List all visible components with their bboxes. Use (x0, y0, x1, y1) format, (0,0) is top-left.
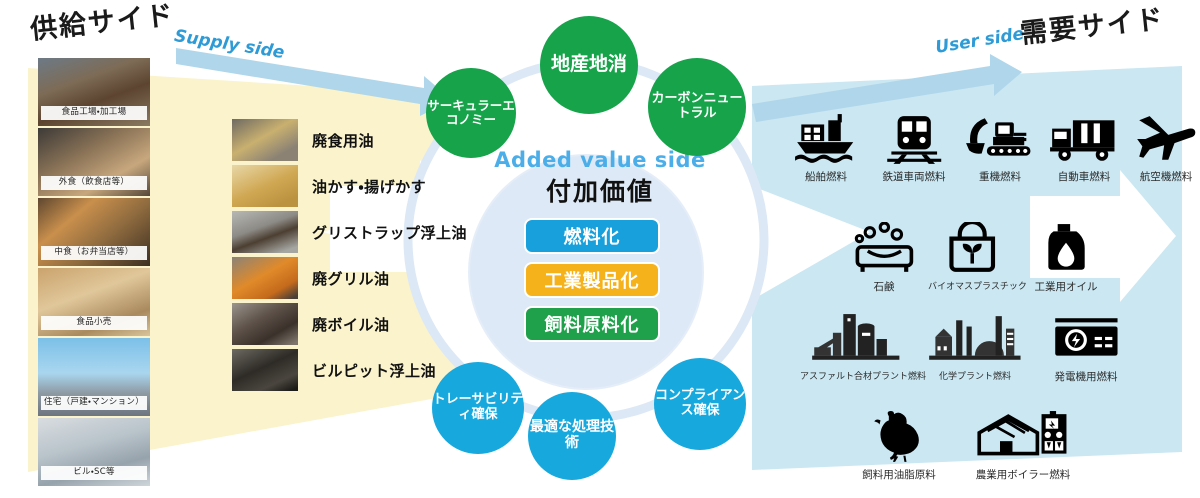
bubble-technology: 最適な処理技術 (528, 392, 616, 480)
photo-caption: 食品小売 (41, 316, 147, 330)
oil-thumbnail (232, 303, 298, 345)
supply-source-list: 食品工場・加工場 外食（飲食店等） 中食（お弁当店等） 食品小売 住宅（戸建・マ… (38, 58, 150, 488)
demand-item-label: 飼料用油脂原料 (846, 467, 952, 482)
oil-thumbnail (232, 349, 298, 391)
list-item: 中食（お弁当店等） (38, 198, 150, 266)
list-item: 廃グリル油 (232, 256, 467, 300)
oil-bottle-icon (1022, 222, 1110, 278)
list-item: グリストラップ浮上油 (232, 210, 467, 254)
bubble-local-production: 地産地消 (540, 16, 638, 114)
ship-icon (782, 112, 870, 168)
demand-item-generator: 発電機用燃料 (1036, 312, 1136, 384)
value-pill-group: 燃料化 工業製品化 飼料原料化 (524, 218, 660, 350)
bubble-carbon-neutral: カーボンニュートラル (648, 58, 746, 156)
oil-label: 廃ボイル油 (312, 314, 390, 335)
list-item: ビルピット浮上油 (232, 348, 467, 392)
demand-item-excavator: 重機燃料 (956, 112, 1044, 184)
demand-item-label: 船舶燃料 (782, 169, 870, 184)
train-icon (870, 112, 958, 168)
truck-icon (1040, 112, 1128, 168)
bubble-circular-economy: サーキュラーエコノミー (426, 68, 516, 158)
demand-item-industrial-oil: 工業用オイル (1022, 222, 1110, 294)
oil-thumbnail (232, 211, 298, 253)
biomass-bag-icon (928, 222, 1016, 278)
asphalt-plant-icon (800, 312, 916, 368)
demand-item-soap: 石鹸 (840, 222, 928, 294)
bubble-traceability: トレーサビリティ確保 (432, 362, 524, 454)
value-pill-fuel: 燃料化 (524, 218, 660, 254)
photo-caption: 中食（お弁当店等） (41, 246, 147, 260)
demand-item-asphalt-plant: アスファルト合材プラント燃料 (800, 312, 916, 382)
list-item: 食品工場・加工場 (38, 58, 150, 126)
generator-icon (1036, 312, 1136, 368)
infographic-canvas: 供給サイド Supply side User side 需要サイド 食品工場・加… (0, 0, 1200, 498)
excavator-icon (956, 112, 1044, 168)
demand-item-label: 発電機用燃料 (1036, 369, 1136, 384)
oil-label: ビルピット浮上油 (312, 360, 436, 381)
chemical-plant-icon (922, 312, 1028, 368)
demand-item-label: アスファルト合材プラント燃料 (800, 369, 916, 382)
demand-item-chemical-plant: 化学プラント燃料 (922, 312, 1028, 382)
farm-boiler-icon (960, 410, 1086, 466)
demand-item-label: 自動車燃料 (1040, 169, 1128, 184)
oil-label: 廃グリル油 (312, 268, 390, 289)
demand-item-label: 石鹸 (840, 279, 928, 294)
list-item: ビル・SC等 (38, 418, 150, 486)
chicken-icon (846, 410, 952, 466)
soap-icon (840, 222, 928, 278)
demand-item-label: 鉄道車両燃料 (870, 169, 958, 184)
demand-item-farm-boiler: 農業用ボイラー燃料 (960, 410, 1086, 482)
bubble-compliance: コンプライアンス確保 (654, 358, 746, 450)
demand-item-label: 農業用ボイラー燃料 (960, 467, 1086, 482)
value-pill-industry: 工業製品化 (524, 262, 660, 298)
list-item: 廃ボイル油 (232, 302, 467, 346)
oil-thumbnail (232, 257, 298, 299)
demand-item-label: 航空機燃料 (1122, 169, 1200, 184)
airplane-icon (1122, 112, 1200, 168)
demand-item-train: 鉄道車両燃料 (870, 112, 958, 184)
demand-item-ship: 船舶燃料 (782, 112, 870, 184)
demand-item-label: 工業用オイル (1022, 279, 1110, 294)
demand-item-label: 化学プラント燃料 (922, 369, 1028, 382)
demand-item-feed-oil: 飼料用油脂原料 (846, 410, 952, 482)
value-pill-feed: 飼料原料化 (524, 306, 660, 342)
demand-item-biomass-plastic: バイオマスプラスチック (928, 222, 1016, 292)
photo-caption: ビル・SC等 (41, 466, 147, 480)
demand-item-airplane: 航空機燃料 (1122, 112, 1200, 184)
list-item: 住宅（戸建・マンション） (38, 338, 150, 416)
demand-item-label: バイオマスプラスチック (928, 279, 1016, 292)
demand-item-label: 重機燃料 (956, 169, 1044, 184)
oil-label: グリストラップ浮上油 (312, 222, 467, 243)
list-item: 食品小売 (38, 268, 150, 336)
demand-item-truck: 自動車燃料 (1040, 112, 1128, 184)
photo-caption: 住宅（戸建・マンション） (41, 396, 147, 410)
photo-caption: 食品工場・加工場 (41, 106, 147, 120)
